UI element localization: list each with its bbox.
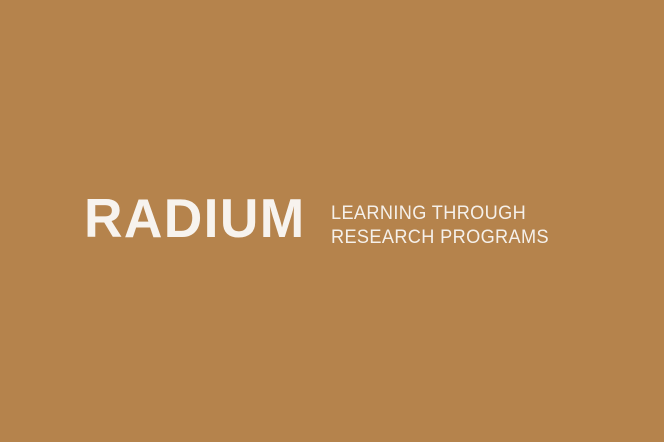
- logo-lockup: RADIUM LEARNING THROUGH RESEARCH PROGRAM…: [84, 193, 566, 249]
- brand-tagline: LEARNING THROUGH RESEARCH PROGRAMS: [331, 193, 565, 249]
- tagline-line-2: RESEARCH PROGRAMS: [331, 225, 549, 249]
- tagline-line-1: LEARNING THROUGH: [331, 201, 549, 225]
- banner-canvas: RADIUM LEARNING THROUGH RESEARCH PROGRAM…: [0, 0, 664, 442]
- brand-wordmark: RADIUM: [84, 193, 306, 244]
